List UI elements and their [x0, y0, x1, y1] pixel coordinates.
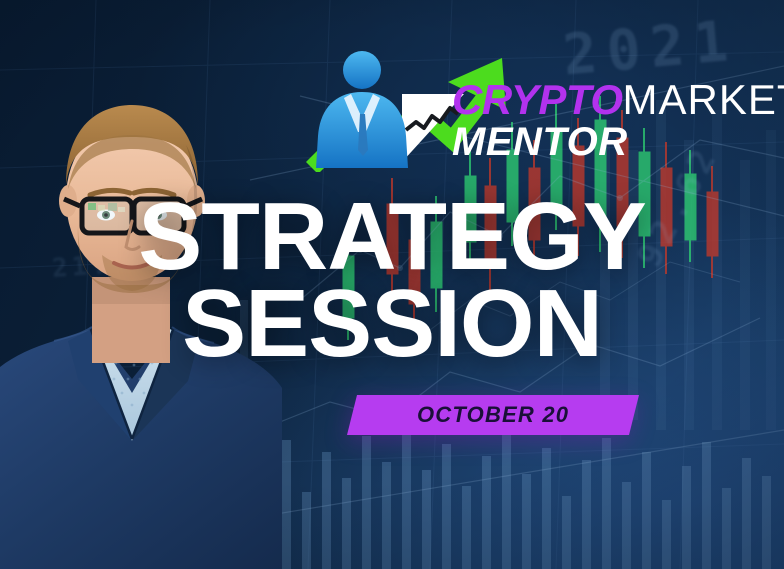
date-banner-label: OCTOBER 20 — [417, 402, 569, 428]
promo-poster: 2021 92.62 21. — [0, 0, 784, 569]
brand-primary-text: CRYPTO — [452, 76, 623, 123]
brand-tagline-text: MENTOR — [452, 122, 784, 162]
date-banner: OCTOBER 20 — [347, 395, 639, 435]
headline-line-1: STRATEGY — [0, 196, 784, 279]
brand-logo: CRYPTOMARKET MENTOR — [306, 44, 776, 172]
headline: STRATEGY SESSION — [0, 196, 784, 365]
brand-secondary-text: MARKET — [623, 76, 784, 123]
brand-wordmark: CRYPTOMARKET MENTOR — [452, 80, 784, 162]
headline-line-2: SESSION — [0, 283, 784, 366]
